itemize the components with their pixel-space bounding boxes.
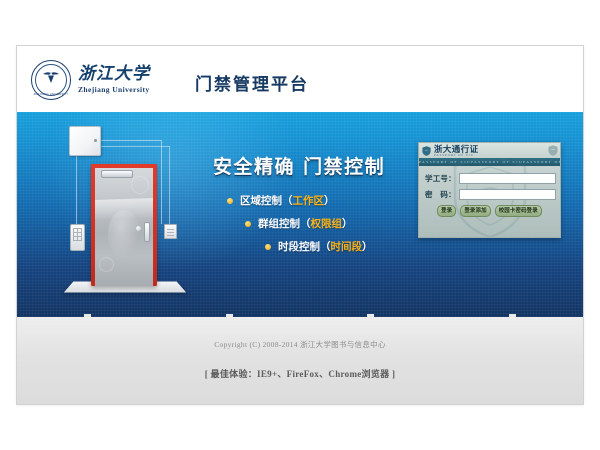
- banner-headline: 安全精确 门禁控制: [213, 152, 385, 179]
- seal-bird-glyph: [41, 70, 61, 86]
- gear-decor-icon: [131, 176, 149, 194]
- hero-banner: 安全精确 门禁控制 区域控制（工作区） 群组控制（权限组） 时段控制（时间段）: [17, 112, 583, 317]
- brand-name-en: Zhejiang University: [78, 86, 150, 94]
- card-reader-icon: [164, 224, 177, 239]
- feature-label: 群组控制（: [258, 218, 311, 230]
- cable-right-2: [169, 146, 171, 224]
- login-panel[interactable]: 浙大通行证 PASSPORT OF ZJU PASSPORT OF ZJU PA…: [418, 142, 561, 238]
- page-container: ZHEJIANG UNIVERSITY 浙江大学 Zhejiang Univer…: [16, 45, 584, 405]
- brand-block[interactable]: ZHEJIANG UNIVERSITY 浙江大学 Zhejiang Univer…: [31, 60, 150, 100]
- bullet-dot-icon: [265, 244, 271, 250]
- cable-top-2: [99, 146, 169, 148]
- seal-ring-text: ZHEJIANG UNIVERSITY: [34, 93, 69, 96]
- banner-bottom-dots: [17, 313, 583, 317]
- login-panel-subtitle: PASSPORT OF ZJU: [434, 153, 474, 157]
- ticker-item: PASSPORT OF ZJU: [419, 160, 471, 164]
- bullet-dot-icon: [245, 221, 251, 227]
- door-lock-icon: [136, 226, 141, 231]
- login-panel-titlebar: 浙大通行证 PASSPORT OF ZJU: [419, 143, 560, 158]
- feature-accent: 权限组: [311, 218, 343, 230]
- feature-list: 区域控制（工作区） 群组控制（权限组） 时段控制（时间段）: [213, 193, 385, 254]
- field-row-userid: 学工号：: [425, 173, 554, 184]
- userid-input[interactable]: [459, 173, 556, 184]
- control-box-icon: [69, 126, 101, 156]
- password-input[interactable]: [459, 189, 556, 200]
- feature-label: 时段控制（: [278, 241, 331, 253]
- passport-ticker: PASSPORT OF ZJU PASSPORT OF ZJU PASSPORT…: [419, 158, 560, 166]
- keypad-reader-icon: [70, 224, 85, 251]
- login-button[interactable]: 登录: [437, 205, 456, 217]
- feature-suffix: ）: [324, 195, 335, 207]
- feature-label: 区域控制（: [240, 195, 293, 207]
- site-header: ZHEJIANG UNIVERSITY 浙江大学 Zhejiang Univer…: [17, 46, 583, 112]
- password-label: 密 码：: [425, 189, 459, 200]
- login-form: 学工号： 密 码： 登录 登录添加 校园卡密码登录: [419, 166, 560, 217]
- shield-corner-icon: [548, 145, 558, 156]
- login-add-button[interactable]: 登录添加: [460, 205, 490, 217]
- login-button-group: 登录 登录添加 校园卡密码登录: [425, 205, 554, 217]
- shield-icon: [422, 146, 431, 156]
- cable-right: [161, 140, 163, 224]
- userid-label: 学工号：: [425, 173, 459, 184]
- list-item: 时段控制（时间段）: [213, 239, 385, 254]
- security-door-icon: [47, 120, 197, 310]
- cable-top: [99, 140, 161, 142]
- site-footer: Copyright (C) 2008-2014 浙江大学图书与信息中心 [ 最佳…: [17, 317, 583, 404]
- ticker-item: PASSPORT OF ZJU: [523, 160, 560, 164]
- cable-left: [76, 154, 78, 224]
- page-title: 门禁管理平台: [195, 70, 309, 95]
- banner-copy: 安全精确 门禁控制 区域控制（工作区） 群组控制（权限组） 时段控制（时间段）: [213, 152, 385, 262]
- feature-accent: 时间段: [331, 241, 363, 253]
- feature-accent: 工作区: [293, 195, 325, 207]
- list-item: 区域控制（工作区）: [213, 193, 385, 208]
- bullet-dot-icon: [227, 198, 233, 204]
- brand-name-cn: 浙江大学: [78, 66, 150, 83]
- feature-suffix: ）: [342, 218, 353, 230]
- copyright-text: Copyright (C) 2008-2014 浙江大学图书与信息中心: [17, 339, 583, 350]
- brand-names: 浙江大学 Zhejiang University: [78, 66, 150, 94]
- campus-card-login-button[interactable]: 校园卡密码登录: [495, 205, 542, 217]
- zju-seal-icon: ZHEJIANG UNIVERSITY: [31, 60, 71, 100]
- ticker-item: PASSPORT OF ZJU: [471, 160, 523, 164]
- feature-suffix: ）: [362, 241, 373, 253]
- field-row-password: 密 码：: [425, 189, 554, 200]
- list-item: 群组控制（权限组）: [213, 216, 385, 231]
- door-handle: [144, 222, 150, 242]
- door-frame: [91, 164, 157, 286]
- browser-support-note: [ 最佳体验：IE9+、FireFox、Chrome浏览器 ]: [17, 367, 583, 380]
- gear-decor-icon-2: [99, 257, 114, 272]
- door-closer: [101, 170, 133, 178]
